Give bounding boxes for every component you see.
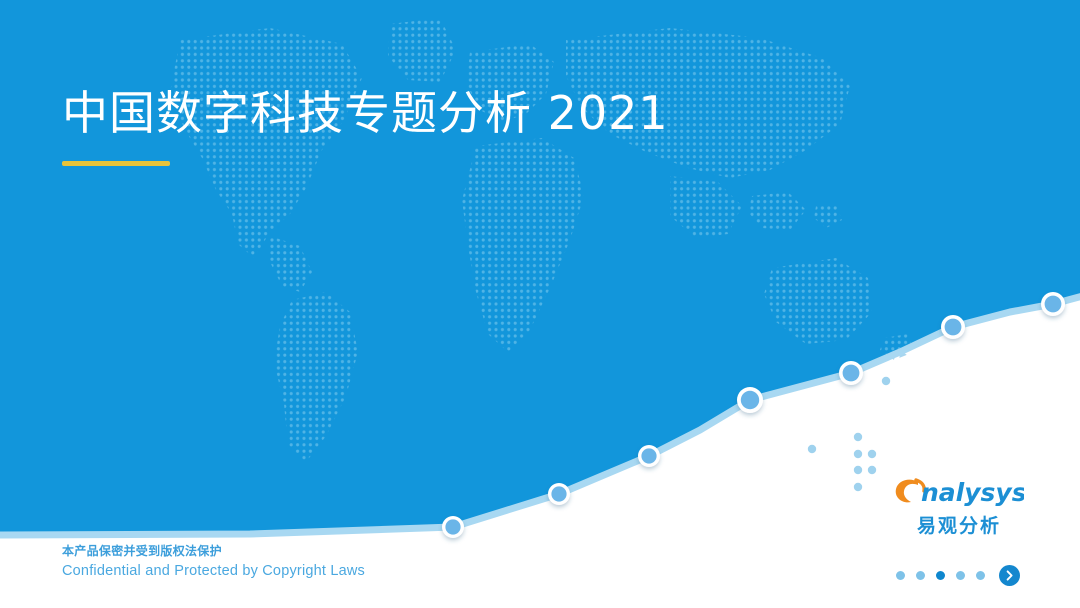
pagination <box>896 565 1020 586</box>
title-accent-rule <box>62 161 170 166</box>
trend-node <box>941 315 965 339</box>
pagination-dot-1[interactable] <box>896 571 905 580</box>
title-block: 中国数字科技专题分析 2021 <box>62 82 669 166</box>
pagination-dot-4[interactable] <box>956 571 965 580</box>
next-slide-button[interactable] <box>999 565 1020 586</box>
confidentiality-notice-en: Confidential and Protected by Copyright … <box>62 561 365 582</box>
pagination-dot-2[interactable] <box>916 571 925 580</box>
logo-swoosh-icon <box>896 480 918 503</box>
trend-node <box>638 445 660 467</box>
analysys-wordmark: nalysys <box>894 476 1024 510</box>
trend-node <box>839 361 863 385</box>
chevron-right-icon <box>1004 570 1015 581</box>
page-title: 中国数字科技专题分析 2021 <box>62 82 669 144</box>
pagination-dot-3[interactable] <box>936 571 945 580</box>
analysys-logo: nalysys 易观分析 <box>894 476 1024 538</box>
confidentiality-notice: 本产品保密并受到版权法保护 Confidential and Protected… <box>62 542 365 582</box>
trend-node <box>1041 292 1065 316</box>
logo-wordmark-text: nalysys <box>921 478 1024 507</box>
presentation-cover-slide: 中国数字科技专题分析 2021 本产品保密并受到版权法保护 Confidenti… <box>0 0 1080 608</box>
logo-brand-cn: 易观分析 <box>894 511 1024 538</box>
trend-node <box>442 516 464 538</box>
trend-node <box>548 483 570 505</box>
confidentiality-notice-cn: 本产品保密并受到版权法保护 <box>62 542 365 561</box>
trend-node <box>737 387 763 413</box>
pagination-dot-5[interactable] <box>976 571 985 580</box>
